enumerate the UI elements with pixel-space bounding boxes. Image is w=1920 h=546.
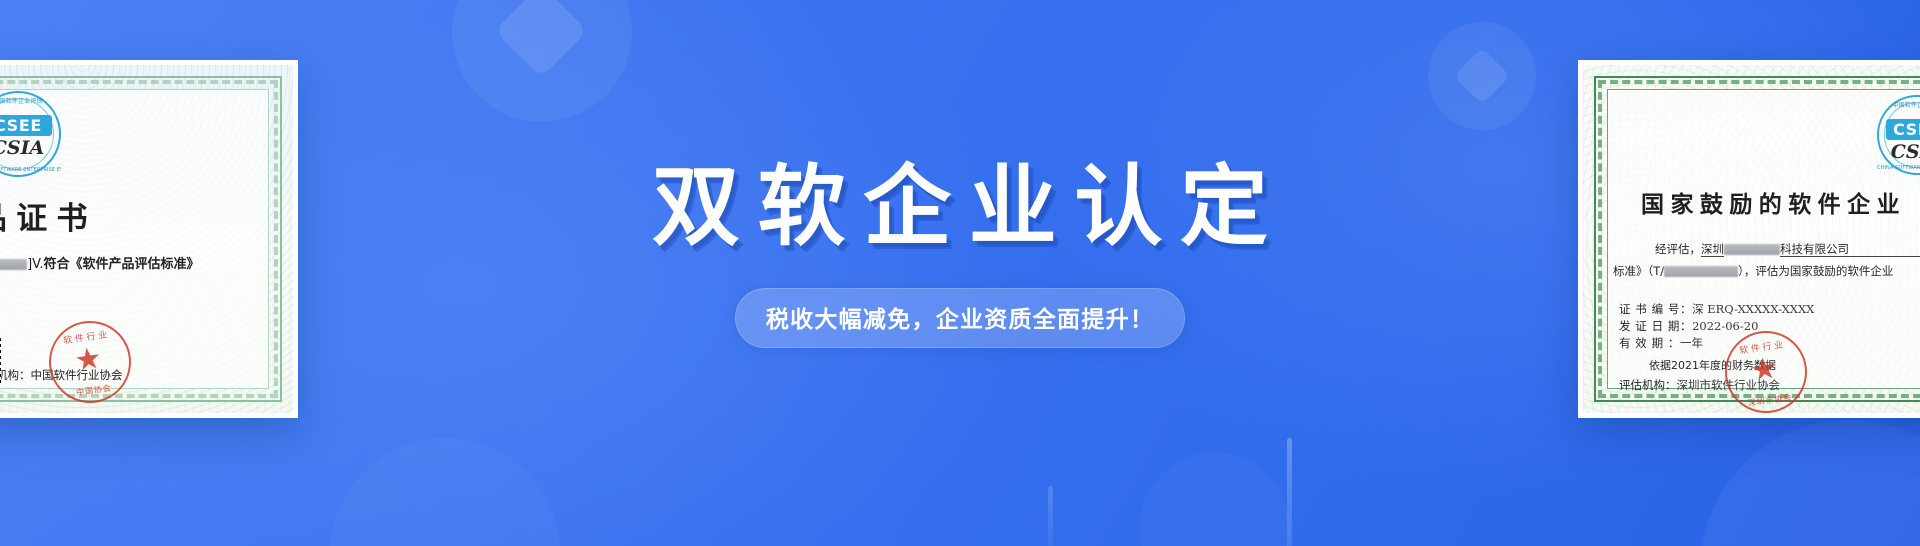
hero-banner: 中国软件企业评估 CSEE CSIA CHINA SOFTWARE ENTERP… bbox=[0, 0, 1920, 546]
banner-subtitle-badge: 税收大幅减免，企业资质全面提升！ bbox=[735, 288, 1185, 348]
page-title: 双软企业认定 bbox=[634, 160, 1285, 253]
banner-center-content: 双软企业认定 税收大幅减免，企业资质全面提升！ bbox=[0, 0, 1920, 546]
